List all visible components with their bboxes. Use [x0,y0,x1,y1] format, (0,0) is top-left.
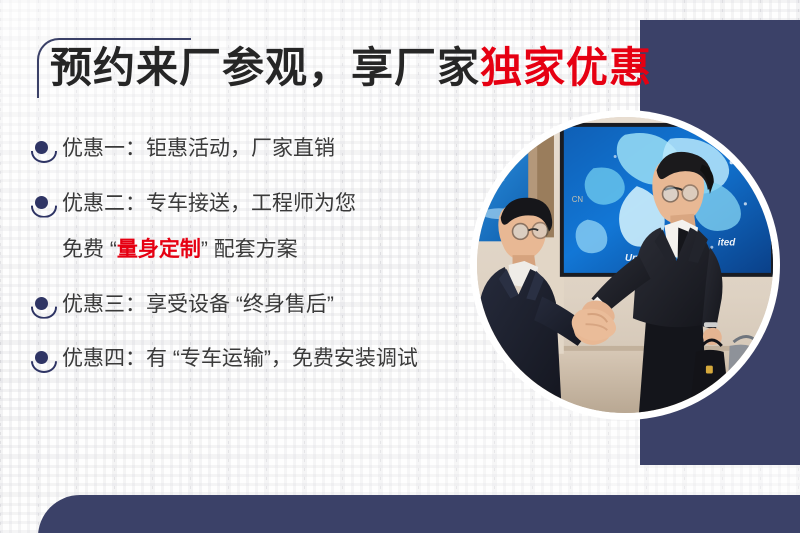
promo-banner: 预约来厂参观，享厂家独家优惠 优惠一：钜惠活动，厂家直销 优惠二：专车接送，工程… [0,0,800,533]
navy-dot-bullet-icon [30,348,56,374]
list-item: 优惠三：享受设备 “终身售后” [30,289,490,322]
page-title-plain: 预约来厂参观，享厂家 [50,44,480,91]
navy-dot-bullet-icon [30,138,56,164]
benefits-list: 优惠一：钜惠活动，厂家直销 优惠二：专车接送，工程师为您 免费 “量身定制” 配… [30,133,490,398]
list-item-text: 优惠一：钜惠活动，厂家直销 [62,133,335,166]
list-item-line2-pre: 免费 “ [62,238,117,261]
list-item-line1: 优惠三：享受设备 “终身售后” [62,293,334,316]
list-item-line1: 优惠四：有 “专车运输”，免费安装调试 [62,347,418,370]
page-title-highlight: 独家优惠 [480,44,652,91]
list-item: 优惠四：有 “专车运输”，免费安装调试 [30,343,490,376]
list-item-line2-highlight: 量身定制 [117,238,201,261]
list-item-line1: 优惠二：专车接送，工程师为您 [62,192,356,215]
navy-dot-bullet-icon [30,294,56,320]
list-item-line1: 优惠一：钜惠活动，厂家直销 [62,137,335,160]
list-item: 优惠一：钜惠活动，厂家直销 [30,133,490,166]
list-item-text: 优惠二：专车接送，工程师为您 免费 “量身定制” 配套方案 [62,188,356,267]
page-title: 预约来厂参观，享厂家独家优惠 [50,44,652,92]
list-item: 优惠二：专车接送，工程师为您 免费 “量身定制” 配套方案 [30,188,490,267]
list-item-line2-post: ” 配套方案 [201,238,298,261]
svg-text:ited: ited [718,237,737,248]
list-item-line2: 免费 “量身定制” 配套方案 [62,234,356,267]
svg-text:CN: CN [572,195,584,204]
list-item-text: 优惠四：有 “专车运输”，免费安装调试 [62,343,418,376]
navy-dot-bullet-icon [30,193,56,219]
handshake-photo-illustration: United ited CN [477,117,773,413]
handshake-photo: United ited CN [477,117,773,413]
handshake-photo-frame: United ited CN [470,110,780,420]
list-item-text: 优惠三：享受设备 “终身售后” [62,289,334,322]
bottom-navy-bar [38,495,800,533]
